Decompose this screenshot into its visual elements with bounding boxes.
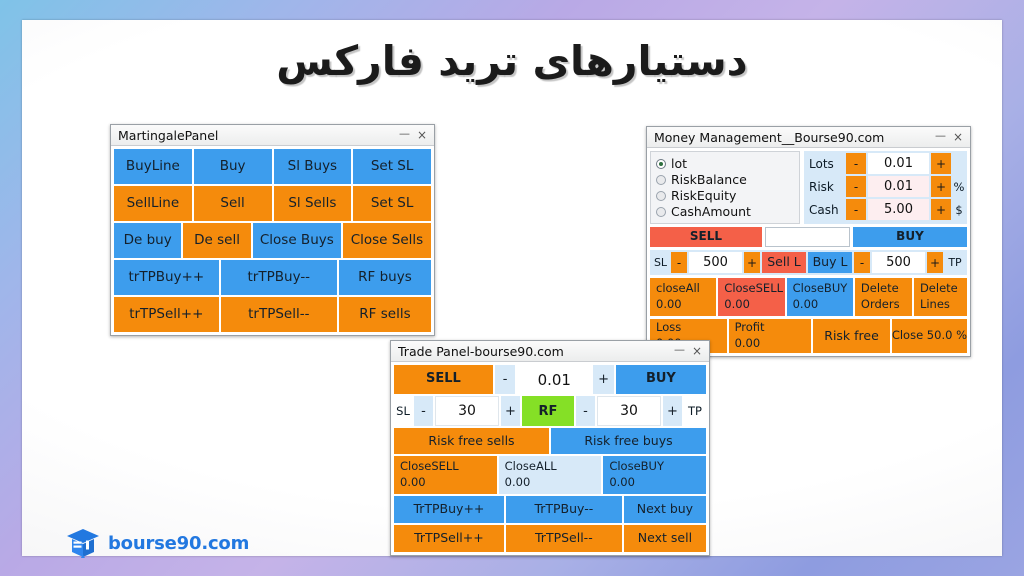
btn-buyline[interactable]: BuyLine xyxy=(114,149,192,184)
mm-sell-button[interactable]: SELL xyxy=(650,227,762,247)
tp-closebuy-label: CloseBUY xyxy=(609,459,706,475)
mm-closebuy-value: 0.00 xyxy=(793,297,853,313)
mm-closesell-label: CloseSELL xyxy=(724,281,784,297)
money-top-section: lot RiskBalance RiskEquity CashAmount xyxy=(650,151,967,224)
spinner-lots: Lots - 0.01 + xyxy=(806,153,965,174)
minimize-icon[interactable]: — xyxy=(399,128,410,139)
trade-riskfree-row: Risk free sells Risk free buys xyxy=(394,428,706,454)
mm-symbol-field[interactable] xyxy=(765,227,850,247)
tp-lot-increment-button[interactable]: + xyxy=(593,365,614,394)
mm-loss-label: Loss xyxy=(656,320,727,336)
martingale-titlebar: MartingalePanel — × xyxy=(111,125,434,146)
tp-closeall-label: CloseALL xyxy=(505,459,602,475)
close-icon[interactable]: × xyxy=(953,131,963,143)
mm-delete-orders-line2: Orders xyxy=(861,297,912,313)
trade-sl-tp-row: SL - 30 + RF - 30 + TP xyxy=(394,396,706,426)
tp-trtpsell-dec-button[interactable]: TrTPSell-- xyxy=(506,525,622,552)
btn-set-sl-buy[interactable]: Set SL xyxy=(353,149,431,184)
btn-trtpbuy-dec[interactable]: trTPBuy-- xyxy=(221,260,337,295)
btn-sl-buys[interactable]: Sl Buys xyxy=(274,149,352,184)
tp-tp-value-field[interactable]: 30 xyxy=(597,396,661,426)
martingale-row-trtp-sell: trTPSell++ trTPSell-- RF sells xyxy=(114,297,431,332)
money-close-row: closeAll 0.00 CloseSELL 0.00 CloseBUY 0.… xyxy=(650,278,967,316)
spinner-risk-label: Risk xyxy=(806,176,844,197)
tp-closeall-value: 0.00 xyxy=(505,475,602,491)
tp-sl-decrement-button[interactable]: - xyxy=(414,396,433,426)
radio-unselected-icon xyxy=(656,207,666,217)
mm-sell-limit-button[interactable]: Sell L xyxy=(762,252,806,273)
martingale-title: MartingalePanel xyxy=(118,128,399,143)
brand-logo: bourse90.com xyxy=(66,528,249,558)
mm-closesell-button[interactable]: CloseSELL 0.00 xyxy=(718,278,784,316)
lots-decrement-button[interactable]: - xyxy=(846,153,866,174)
btn-close-sells[interactable]: Close Sells xyxy=(343,223,431,258)
logo-text: bourse90.com xyxy=(108,533,249,554)
btn-de-buy[interactable]: De buy xyxy=(114,223,181,258)
tp-lot-value-field[interactable]: 0.01 xyxy=(517,365,591,394)
radio-lot-label: lot xyxy=(671,156,687,171)
radio-lot[interactable]: lot xyxy=(656,156,794,171)
trade-body: SELL - 0.01 + BUY SL - 30 + RF - 30 + TP… xyxy=(391,362,709,555)
trade-title: Trade Panel-bourse90.com xyxy=(398,344,674,359)
tp-tp-label: TP xyxy=(684,396,706,426)
spinner-cash: Cash - 5.00 + $ xyxy=(806,199,965,220)
money-mode-radiogroup: lot RiskBalance RiskEquity CashAmount xyxy=(650,151,800,224)
slide-canvas: دستیارهای ترید فارکس MartingalePanel — ×… xyxy=(22,20,1002,556)
tp-closesell-value: 0.00 xyxy=(400,475,497,491)
lots-value-field[interactable]: 0.01 xyxy=(868,153,929,174)
mm-closeall-button[interactable]: closeAll 0.00 xyxy=(650,278,716,316)
mm-closesell-value: 0.00 xyxy=(724,297,784,313)
tp-risk-free-sells-button[interactable]: Risk free sells xyxy=(394,428,549,454)
cash-decrement-button[interactable]: - xyxy=(846,199,866,220)
tp-tp-decrement-button[interactable]: - xyxy=(576,396,595,426)
close-icon[interactable]: × xyxy=(692,345,702,357)
money-sell-buy-row: SELL BUY xyxy=(650,227,967,247)
btn-de-sell[interactable]: De sell xyxy=(183,223,250,258)
radio-riskbalance[interactable]: RiskBalance xyxy=(656,172,794,187)
tp-lot-decrement-button[interactable]: - xyxy=(495,365,516,394)
martingale-row-sell: SellLine Sell Sl Sells Set SL xyxy=(114,186,431,221)
mm-sl-increment-button[interactable]: + xyxy=(744,252,760,273)
mm-delete-lines-line2: Lines xyxy=(920,297,967,313)
btn-buy[interactable]: Buy xyxy=(194,149,272,184)
tp-sl-label: SL xyxy=(394,396,412,426)
mm-delete-lines-line1: Delete xyxy=(920,281,967,297)
tp-risk-free-buys-button[interactable]: Risk free buys xyxy=(551,428,706,454)
cash-unit-dollar: $ xyxy=(953,199,965,220)
risk-unit-percent: % xyxy=(953,176,965,197)
radio-unselected-icon xyxy=(656,191,666,201)
tp-sl-increment-button[interactable]: + xyxy=(501,396,520,426)
risk-increment-button[interactable]: + xyxy=(931,176,951,197)
trade-sell-buy-row: SELL - 0.01 + BUY xyxy=(394,365,706,394)
lots-increment-button[interactable]: + xyxy=(931,153,951,174)
tp-trtpsell-inc-button[interactable]: TrTPSell++ xyxy=(394,525,504,552)
close-icon[interactable]: × xyxy=(417,129,427,141)
risk-value-field[interactable]: 0.01 xyxy=(868,176,929,197)
money-sl-tp-row: SL - 500 + Sell L Buy L - 500 + TP xyxy=(650,250,967,275)
trade-trtp-sell-row: TrTPSell++ TrTPSell-- Next sell xyxy=(394,525,706,552)
radio-cashamount-label: CashAmount xyxy=(671,204,751,219)
btn-rf-sells[interactable]: RF sells xyxy=(339,297,431,332)
trade-close-row: CloseSELL 0.00 CloseALL 0.00 CloseBUY 0.… xyxy=(394,456,706,494)
cash-value-field[interactable]: 5.00 xyxy=(868,199,929,220)
risk-decrement-button[interactable]: - xyxy=(846,176,866,197)
btn-rf-buys[interactable]: RF buys xyxy=(339,260,431,295)
mm-tp-label: TP xyxy=(945,252,965,273)
lots-unit xyxy=(953,153,965,174)
money-body: lot RiskBalance RiskEquity CashAmount xyxy=(647,148,970,356)
martingale-row-delete-close: De buy De sell Close Buys Close Sells xyxy=(114,223,431,258)
mm-sl-value-field[interactable]: 500 xyxy=(689,252,742,273)
martingale-button-grid: BuyLine Buy Sl Buys Set SL SellLine Sell… xyxy=(111,146,434,335)
mm-delete-orders-line1: Delete xyxy=(861,281,912,297)
mm-closeall-label: closeAll xyxy=(656,281,716,297)
mm-tp-increment-button[interactable]: + xyxy=(927,252,943,273)
tp-next-sell-button[interactable]: Next sell xyxy=(624,525,706,552)
martingale-row-trtp-buy: trTPBuy++ trTPBuy-- RF buys xyxy=(114,260,431,295)
trade-trtp-buy-row: TrTPBuy++ TrTPBuy-- Next buy xyxy=(394,496,706,523)
radio-unselected-icon xyxy=(656,175,666,185)
minimize-icon[interactable]: — xyxy=(674,344,685,355)
tp-next-buy-button[interactable]: Next buy xyxy=(624,496,706,523)
tp-closesell-button[interactable]: CloseSELL 0.00 xyxy=(394,456,497,494)
mm-profit-label: Profit xyxy=(735,320,812,336)
mm-tp-value-field[interactable]: 500 xyxy=(872,252,925,273)
mm-closebuy-button[interactable]: CloseBUY 0.00 xyxy=(787,278,853,316)
btn-trtpsell-inc[interactable]: trTPSell++ xyxy=(114,297,219,332)
radio-riskequity-label: RiskEquity xyxy=(671,188,736,203)
martingale-panel-window: MartingalePanel — × BuyLine Buy Sl Buys … xyxy=(110,124,435,336)
btn-set-sl-sell[interactable]: Set SL xyxy=(353,186,431,221)
money-spinner-group: Lots - 0.01 + Risk - 0.01 + % Cash xyxy=(804,151,967,224)
tp-closeall-button[interactable]: CloseALL 0.00 xyxy=(499,456,602,494)
btn-close-buys[interactable]: Close Buys xyxy=(253,223,341,258)
mm-risk-free-button[interactable]: Risk free xyxy=(813,319,890,353)
mm-sl-label: SL xyxy=(652,252,669,273)
tp-sl-value-field[interactable]: 30 xyxy=(435,396,499,426)
cash-increment-button[interactable]: + xyxy=(931,199,951,220)
graduation-cap-icon xyxy=(66,528,100,558)
minimize-icon[interactable]: — xyxy=(935,130,946,141)
tp-closebuy-value: 0.00 xyxy=(609,475,706,491)
mm-sl-decrement-button[interactable]: - xyxy=(671,252,687,273)
tp-buy-button[interactable]: BUY xyxy=(616,365,706,394)
trade-panel-window: Trade Panel-bourse90.com — × SELL - 0.01… xyxy=(390,340,710,556)
martingale-row-buy: BuyLine Buy Sl Buys Set SL xyxy=(114,149,431,184)
btn-sell[interactable]: Sell xyxy=(194,186,272,221)
mm-buy-button[interactable]: BUY xyxy=(853,227,967,247)
mm-closebuy-label: CloseBUY xyxy=(793,281,853,297)
mm-closeall-value: 0.00 xyxy=(656,297,716,313)
btn-sl-sells[interactable]: Sl Sells xyxy=(274,186,352,221)
mm-close-half-button[interactable]: Close 50.0 % xyxy=(892,319,967,353)
mm-profit-button[interactable]: Profit 0.00 xyxy=(729,319,812,353)
spinner-lots-label: Lots xyxy=(806,153,844,174)
tp-rf-button[interactable]: RF xyxy=(522,396,574,426)
btn-sellline[interactable]: SellLine xyxy=(114,186,192,221)
btn-trtpsell-dec[interactable]: trTPSell-- xyxy=(221,297,337,332)
money-title: Money Management__Bourse90.com xyxy=(654,130,935,145)
mm-profit-value: 0.00 xyxy=(735,336,812,352)
money-management-window: Money Management__Bourse90.com — × lot R… xyxy=(646,126,971,357)
money-titlebar: Money Management__Bourse90.com — × xyxy=(647,127,970,148)
tp-trtpbuy-dec-button[interactable]: TrTPBuy-- xyxy=(506,496,622,523)
trade-titlebar: Trade Panel-bourse90.com — × xyxy=(391,341,709,362)
mm-delete-lines-button[interactable]: Delete Lines xyxy=(914,278,967,316)
tp-closesell-label: CloseSELL xyxy=(400,459,497,475)
tp-closebuy-button[interactable]: CloseBUY 0.00 xyxy=(603,456,706,494)
mm-buy-limit-button[interactable]: Buy L xyxy=(808,252,852,273)
spinner-risk: Risk - 0.01 + % xyxy=(806,176,965,197)
page-title: دستیارهای ترید فارکس xyxy=(22,37,1002,85)
radio-riskequity[interactable]: RiskEquity xyxy=(656,188,794,203)
btn-trtpbuy-inc[interactable]: trTPBuy++ xyxy=(114,260,219,295)
mm-tp-decrement-button[interactable]: - xyxy=(854,252,870,273)
tp-trtpbuy-inc-button[interactable]: TrTPBuy++ xyxy=(394,496,504,523)
mm-delete-orders-button[interactable]: Delete Orders xyxy=(855,278,912,316)
spinner-cash-label: Cash xyxy=(806,199,844,220)
radio-riskbalance-label: RiskBalance xyxy=(671,172,747,187)
tp-tp-increment-button[interactable]: + xyxy=(663,396,682,426)
tp-sell-button[interactable]: SELL xyxy=(394,365,493,394)
radio-cashamount[interactable]: CashAmount xyxy=(656,204,794,219)
radio-selected-icon xyxy=(656,159,666,169)
